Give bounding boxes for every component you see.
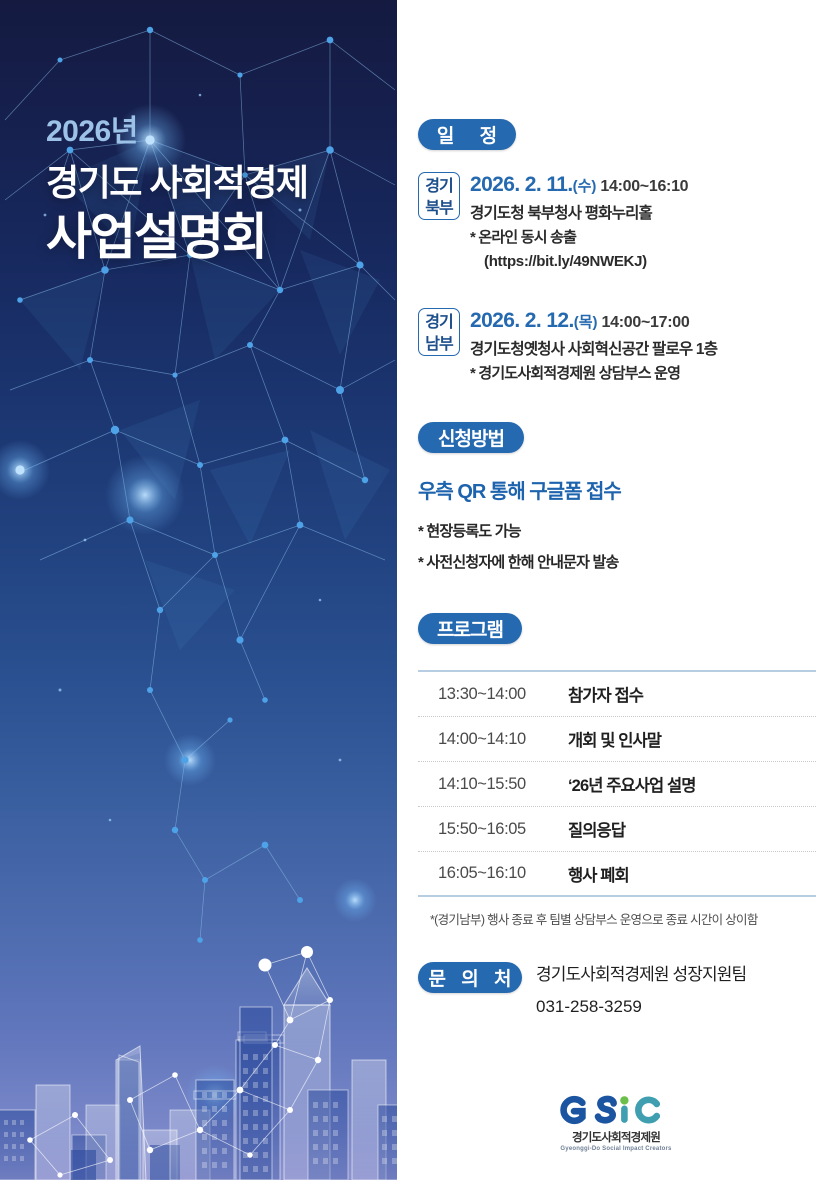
- right-content-panel: 일 정 경기 북부 2026. 2. 11.(수)14:00~16:10 경기도…: [397, 0, 835, 1180]
- region-badge-south-line1: 경기: [419, 312, 459, 334]
- program-name-2: 개회 및 인사말: [568, 727, 816, 751]
- schedule-entry-north: 경기 북부 2026. 2. 11.(수)14:00~16:10 경기도청 북부…: [418, 172, 818, 274]
- apply-notes-list: * 현장등록도 가능 * 사전신청자에 한해 안내문자 발송: [418, 520, 818, 575]
- schedule-note-north: * 온라인 동시 송출: [470, 226, 818, 250]
- program-heading-pill: 프로그램: [418, 613, 522, 644]
- program-table: 13:30~14:00 참가자 접수 14:00~14:10 개회 및 인사말 …: [418, 670, 816, 897]
- table-row: 15:50~16:05 질의응답: [418, 807, 816, 852]
- apply-note-1: * 현장등록도 가능: [418, 520, 818, 543]
- program-section: 프로그램 13:30~14:00 참가자 접수 14:00~14:10 개회 및…: [418, 613, 818, 928]
- program-time-5: 16:05~16:10: [418, 864, 568, 883]
- contact-telephone: 031-258-3259: [536, 993, 746, 1020]
- schedule-time-north: 14:00~16:10: [600, 178, 688, 195]
- region-badge-north-line2: 북부: [419, 198, 459, 220]
- apply-heading-text: 우측 QR 통해 구글폼 접수: [418, 475, 818, 504]
- region-badge-south-line2: 남부: [419, 334, 459, 356]
- title-line-1: 경기도 사회적경제: [46, 160, 307, 205]
- logo-name-en: Gyeonggi-Do Social Impact Creators: [560, 1146, 671, 1152]
- region-badge-north: 경기 북부: [418, 172, 460, 220]
- program-time-4: 15:50~16:05: [418, 820, 568, 839]
- schedule-section: 일 정 경기 북부 2026. 2. 11.(수)14:00~16:10 경기도…: [418, 119, 818, 408]
- schedule-place-south: 경기도청옛청사 사회혁신공간 팔로우 1층: [470, 338, 818, 362]
- program-name-4: 질의응답: [568, 817, 816, 841]
- schedule-date-line-north: 2026. 2. 11.(수)14:00~16:10: [470, 173, 818, 198]
- table-row: 14:00~14:10 개회 및 인사말: [418, 717, 816, 762]
- program-name-3: ‘26년 주요사업 설명: [568, 772, 816, 796]
- schedule-heading-pill: 일 정: [418, 119, 516, 150]
- apply-note-2: * 사전신청자에 한해 안내문자 발송: [418, 551, 818, 574]
- schedule-date-north: 2026. 2. 11.: [470, 173, 573, 196]
- program-footnote: *(경기남부) 행사 종료 후 팀별 상담부스 운영으로 종료 시간이 상이함: [418, 909, 818, 928]
- gsic-logo: 경기도사회적경제원 Gyeonggi-Do Social Impact Crea…: [397, 1093, 835, 1152]
- apply-heading-pill: 신청방법: [418, 422, 524, 453]
- poster-root: 2026년 경기도 사회적경제 사업설명회 일 정 경기 북부 2026. 2.…: [0, 0, 835, 1180]
- schedule-url-north[interactable]: (https://bit.ly/49NWEKJ): [470, 250, 818, 274]
- contact-heading-pill: 문 의 처: [418, 962, 522, 993]
- logo-name-kr: 경기도사회적경제원: [572, 1129, 660, 1145]
- contact-section: 문 의 처 경기도사회적경제원 성장지원팀 031-258-3259: [418, 962, 818, 1020]
- title-line-2: 사업설명회: [46, 207, 307, 268]
- schedule-date-line-south: 2026. 2. 12.(목)14:00~17:00: [470, 309, 818, 334]
- region-badge-north-line1: 경기: [419, 176, 459, 198]
- apply-section: 신청방법 우측 QR 통해 구글폼 접수 * 현장등록도 가능 * 사전신청자에…: [418, 422, 818, 583]
- schedule-date-south: 2026. 2. 12.: [470, 309, 574, 332]
- schedule-dayofweek-south: (목): [574, 314, 598, 331]
- table-row: 14:10~15:50 ‘26년 주요사업 설명: [418, 762, 816, 807]
- program-time-3: 14:10~15:50: [418, 775, 568, 794]
- program-time-1: 13:30~14:00: [418, 685, 568, 704]
- left-graphic-panel: 2026년 경기도 사회적경제 사업설명회: [0, 0, 397, 1180]
- schedule-entry-south: 경기 남부 2026. 2. 12.(목)14:00~17:00 경기도청옛청사…: [418, 308, 818, 386]
- schedule-time-south: 14:00~17:00: [602, 314, 690, 331]
- program-time-2: 14:00~14:10: [418, 730, 568, 749]
- schedule-note-south: * 경기도사회적경제원 상담부스 운영: [470, 362, 818, 386]
- poster-title-block: 2026년 경기도 사회적경제 사업설명회: [46, 114, 307, 268]
- program-name-1: 참가자 접수: [568, 682, 816, 706]
- schedule-place-north: 경기도청 북부청사 평화누리홀: [470, 202, 818, 226]
- program-name-5: 행사 폐회: [568, 862, 816, 886]
- region-badge-south: 경기 남부: [418, 308, 460, 356]
- title-year: 2026년: [46, 114, 307, 150]
- gsic-logomark-icon: [556, 1093, 676, 1127]
- schedule-rows: 경기 북부 2026. 2. 11.(수)14:00~16:10 경기도청 북부…: [418, 172, 818, 386]
- table-row: 16:05~16:10 행사 폐회: [418, 852, 816, 897]
- contact-organization: 경기도사회적경제원 성장지원팀: [536, 963, 746, 988]
- table-row: 13:30~14:00 참가자 접수: [418, 672, 816, 717]
- schedule-dayofweek-north: (수): [573, 178, 597, 195]
